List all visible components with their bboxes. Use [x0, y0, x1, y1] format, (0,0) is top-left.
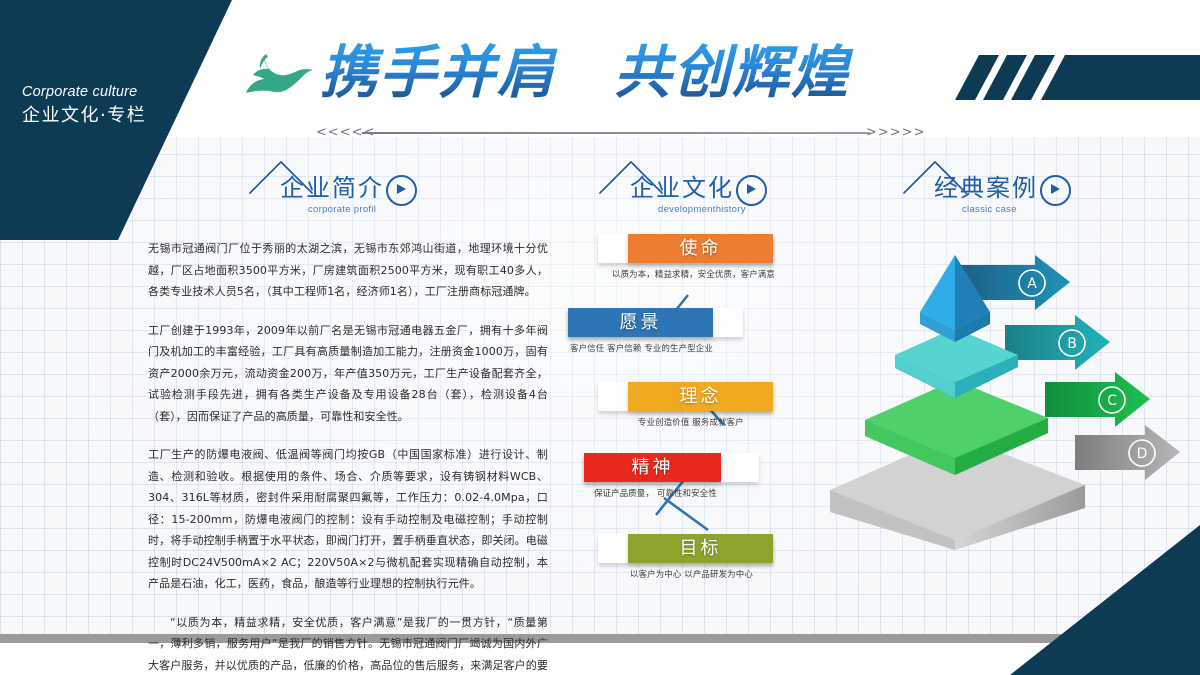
- section-title-case: 经典案例: [934, 172, 1038, 204]
- profile-text-column: 无锡市冠通阀门厂位于秀丽的太湖之滨，无锡市东郊鸿山街道，地理环境十分优越，厂区占…: [148, 238, 548, 675]
- pyramid-arrow-label-b: B: [1067, 336, 1077, 352]
- culture-bar-subtitle: 以客户为中心 以产品研发为中心: [630, 568, 753, 580]
- section-subtitle-culture: developmenthistory: [658, 204, 746, 215]
- pyramid-arrow-c: C: [1045, 372, 1150, 427]
- profile-paragraph: 无锡市冠通阀门厂位于秀丽的太湖之滨，无锡市东郊鸿山街道，地理环境十分优越，厂区占…: [148, 238, 548, 303]
- page-title-left: 携手并肩: [320, 40, 556, 106]
- section-title-profile: 企业简介: [280, 172, 384, 204]
- section-subtitle-profile: corporate profil: [308, 204, 376, 215]
- culture-bar-subtitle: 以质为本，精益求精，安全优质，客户满意: [612, 268, 775, 280]
- pyramid-arrow-label-a: A: [1027, 276, 1037, 292]
- culture-bar-subtitle: 客户信任 客户信赖 专业的生产型企业: [570, 342, 713, 354]
- page-title-right: 共创辉煌: [614, 40, 850, 106]
- page-title: 携手并肩共创辉煌: [320, 34, 960, 112]
- play-icon[interactable]: [736, 175, 767, 206]
- culture-bar-label: 理念: [628, 382, 773, 411]
- divider-line: [362, 132, 870, 134]
- play-icon[interactable]: [386, 175, 417, 206]
- divider-rule: <<<<< >>>>>: [310, 126, 920, 140]
- culture-bar-label: 愿景: [568, 308, 713, 337]
- sidebar-caption-chinese: 企业文化·专栏: [22, 103, 146, 129]
- culture-bar-label: 目标: [628, 534, 773, 563]
- divider-right-chevrons: >>>>>: [866, 126, 925, 140]
- pyramid-diagram: D C B A: [820, 250, 1200, 550]
- profile-paragraph: 工厂创建于1993年，2009年以前厂名是无锡市冠通电器五金厂，拥有十多年阀门及…: [148, 320, 548, 428]
- dove-icon: [243, 50, 315, 106]
- sidebar-caption: Corporate culture 企业文化·专栏: [22, 83, 146, 129]
- pyramid-arrow-label-c: C: [1107, 393, 1117, 409]
- culture-bar-vision: 愿景: [568, 308, 743, 337]
- profile-paragraph: 工厂生产的防爆电液阀、低温阀等阀门均按GB（中国国家标准）进行设计、制造、检测和…: [148, 444, 548, 595]
- culture-bar-label: 使命: [628, 234, 773, 263]
- profile-paragraph: “以质为本，精益求精，安全优质，客户满意”是我厂的一贯方针，“质量第一，薄利多销…: [148, 612, 548, 675]
- culture-bar-label: 精神: [584, 453, 721, 482]
- pyramid-arrow-d: D: [1075, 425, 1180, 480]
- sidebar-caption-english: Corporate culture: [22, 83, 146, 101]
- section-subtitle-case: classic case: [962, 204, 1017, 215]
- section-title-culture: 企业文化: [630, 172, 734, 204]
- culture-bar-subtitle: 保证产品质量， 可靠性和安全性: [594, 487, 717, 499]
- poster-canvas: Corporate culture 企业文化·专栏 携手并肩共创辉煌 携手并肩共…: [0, 0, 1200, 675]
- pyramid-arrow-label-d: D: [1137, 446, 1148, 462]
- culture-bar-subtitle: 专业创造价值 服务成就客户: [638, 416, 744, 428]
- play-icon[interactable]: [1040, 175, 1071, 206]
- culture-bar-idea: 理念: [598, 382, 773, 411]
- pyramid-arrow-b: B: [1005, 315, 1110, 370]
- culture-bar-goal: 目标: [598, 534, 773, 563]
- culture-bar-mission: 使命: [598, 234, 773, 263]
- culture-bar-spirit: 精神: [584, 453, 759, 482]
- diagonal-stripes-icon: [955, 55, 1200, 100]
